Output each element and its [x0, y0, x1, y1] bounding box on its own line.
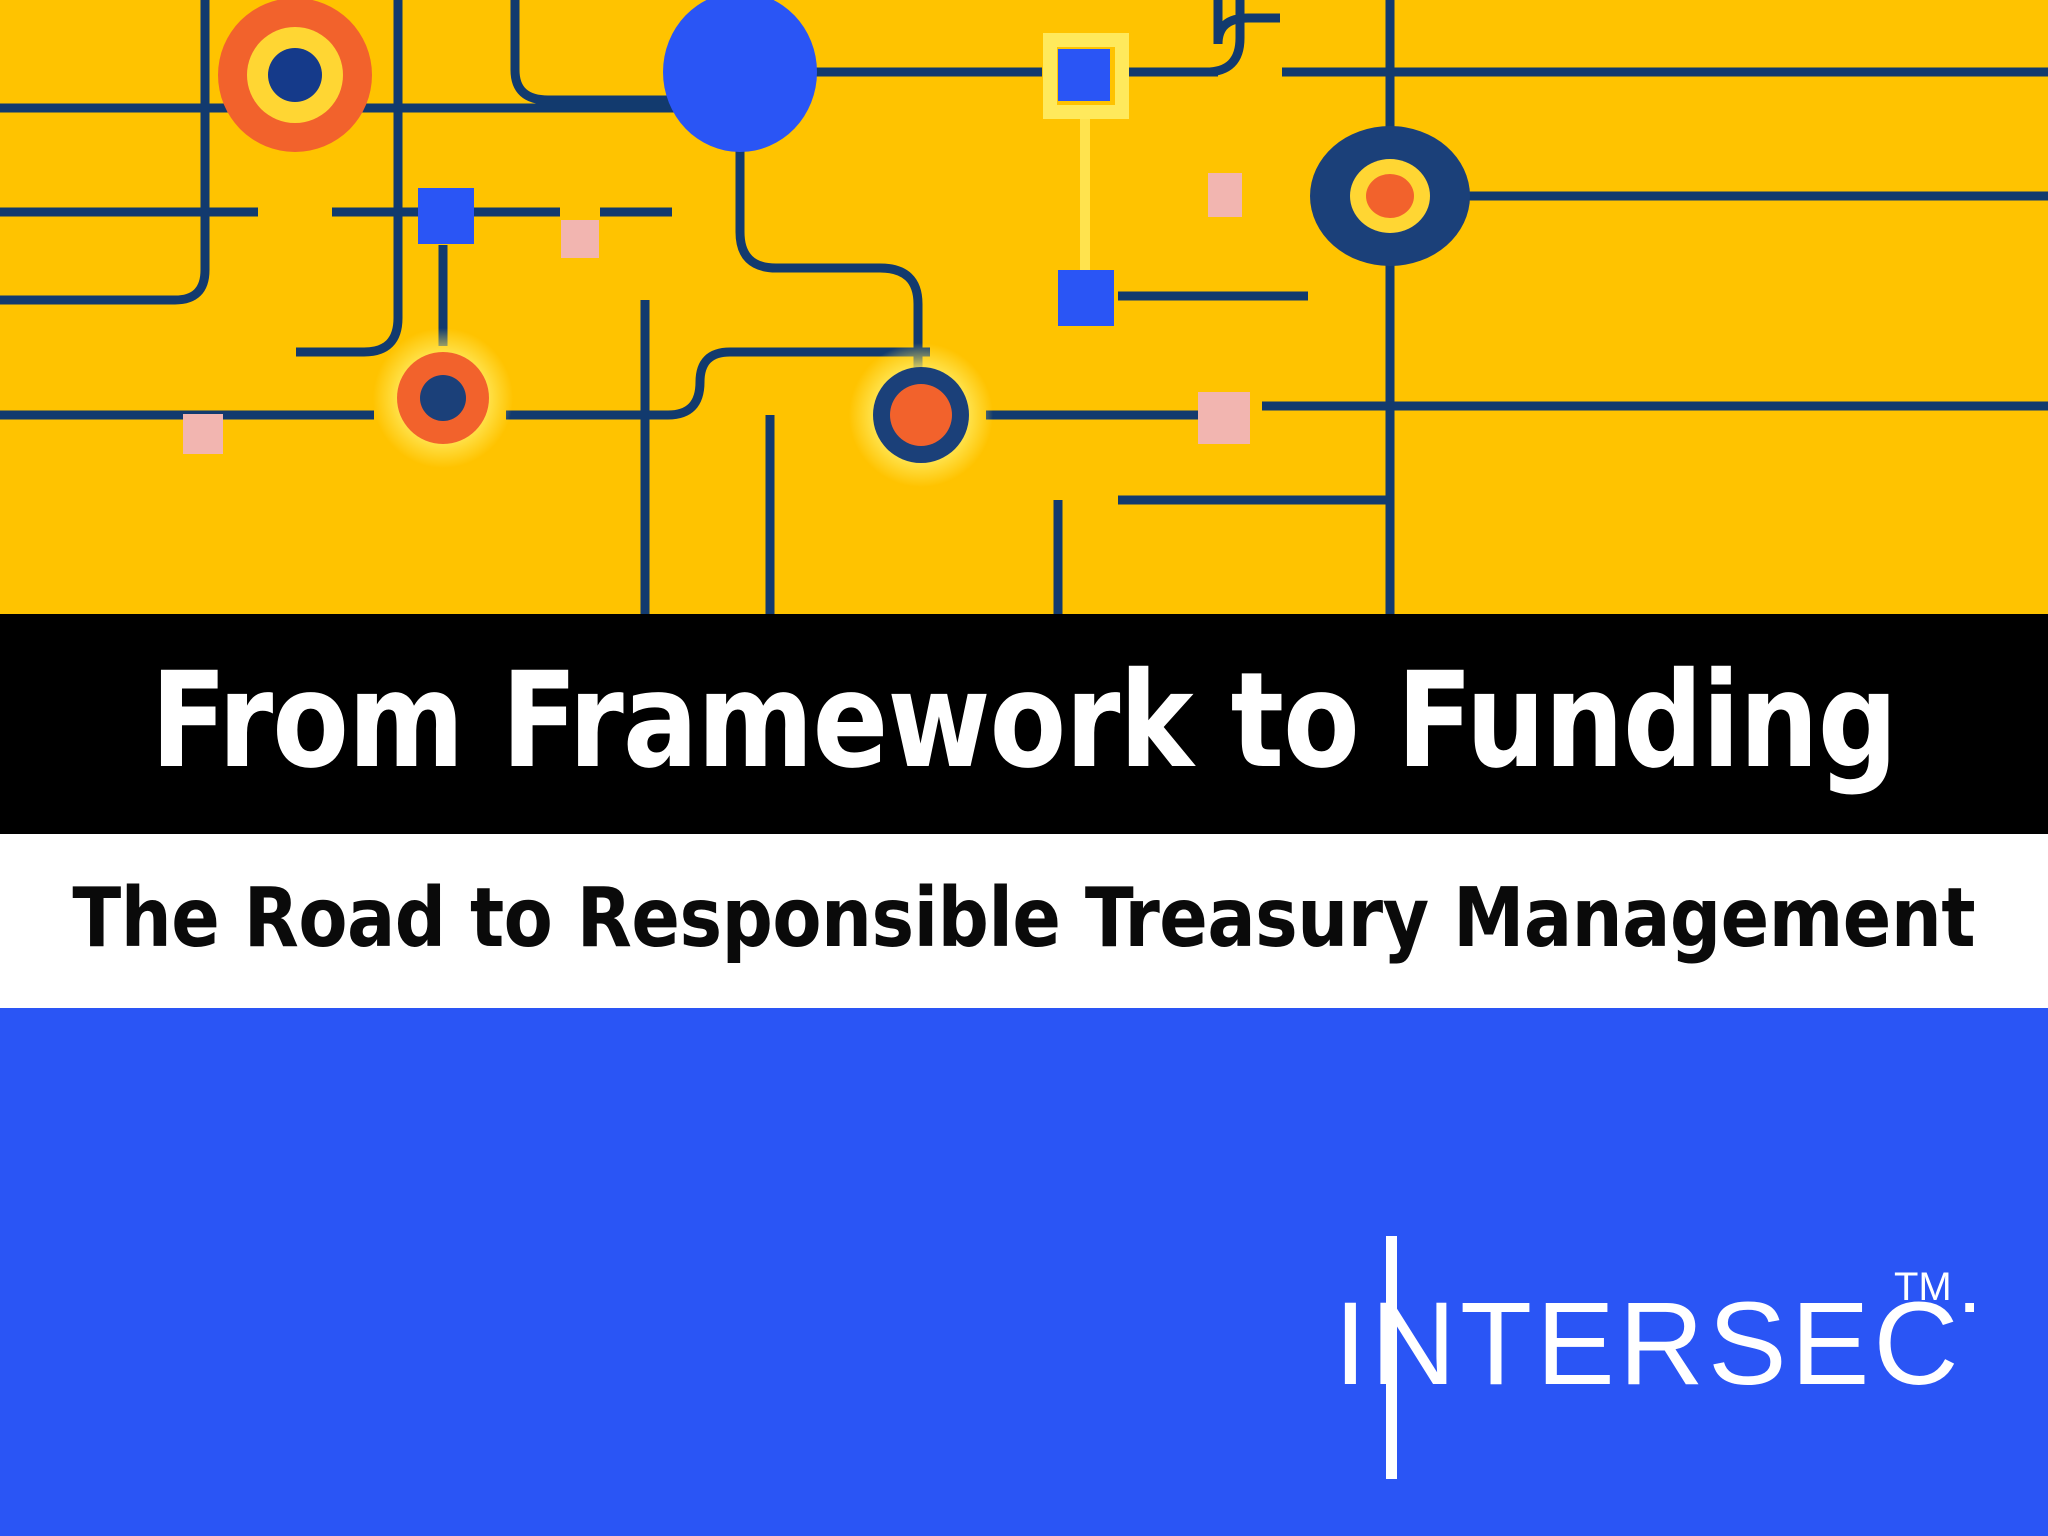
- blue-square-left: [418, 188, 474, 244]
- intersect-wordmark: INTERSECTTM: [1334, 1234, 1974, 1484]
- circuit-diagram: [0, 0, 2048, 614]
- intersect-logo: INTERSECTTM: [1334, 1234, 1974, 1484]
- target-orange-navy-bottom: [373, 328, 513, 468]
- pink-square-small: [561, 220, 599, 258]
- target-navy-orange-bottom: [849, 343, 993, 487]
- hero-circuit-graphic: [0, 0, 2048, 614]
- page-title: From Framework to Funding: [151, 655, 1897, 787]
- logo-trademark: TM: [1894, 1265, 1952, 1309]
- blue-square-glow-top: [1058, 49, 1110, 101]
- target-orange-navy-top-left: [218, 0, 372, 152]
- pink-square-bottom-right: [1198, 392, 1250, 444]
- logo-wordmark: INTERSECT: [1334, 1278, 1974, 1410]
- target-navy-orange-top-right: [1310, 126, 1470, 266]
- pink-square-lower-left: [183, 414, 223, 454]
- logo-intersect-stroke: [1386, 1236, 1397, 1479]
- footer-band: INTERSECTTM: [0, 1008, 2048, 1536]
- glow-connector: [1080, 106, 1090, 274]
- slide-canvas: From Framework to Funding The Road to Re…: [0, 0, 2048, 1536]
- title-band: From Framework to Funding: [0, 614, 2048, 834]
- blue-square-mid-right: [1058, 270, 1114, 326]
- pink-square-right: [1208, 173, 1242, 217]
- subtitle-band: The Road to Responsible Treasury Managem…: [0, 834, 2048, 1008]
- page-subtitle: The Road to Responsible Treasury Managem…: [73, 878, 1976, 960]
